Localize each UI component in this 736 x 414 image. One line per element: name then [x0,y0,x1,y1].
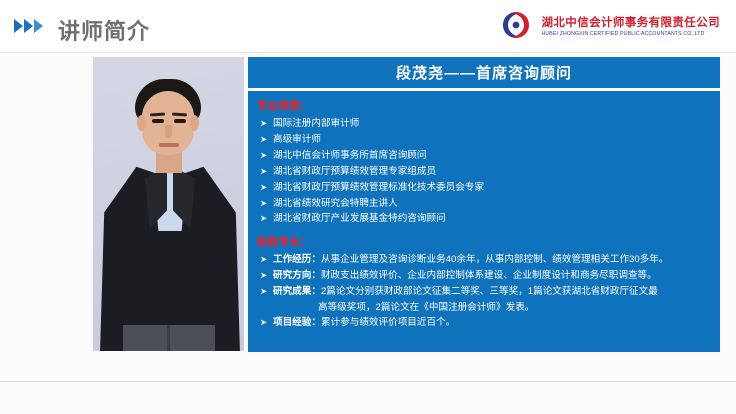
list-item: ➤ 湖北省财政厅预算绩效管理专家组成员 [257,164,710,179]
list-item-text: 工作经历：从事企业管理及咨询诊断业务40余年，从事内部控制、绩效管理相关工作30… [273,252,710,267]
arrow-bullet-icon: ➤ [257,132,273,147]
company-swirl-logo-icon [497,8,535,42]
list-item-text: 国际注册内部审计师 [273,116,710,131]
list-item: ➤ 国际注册内部审计师 [257,116,710,131]
arrow-bullet-icon: ➤ [257,196,273,211]
list-item-label: 研究方向： [273,270,321,281]
list-item-body: 从事企业管理及咨询诊断业务40余年，从事内部控制、绩效管理相关工作30多年。 [321,254,669,265]
header-divider [0,52,736,53]
list-item-label: 工作经历： [273,254,321,265]
page-title: 讲师简介 [58,14,150,46]
list-item-text: 湖北省财政厅产业发展基金特约咨询顾问 [273,211,710,226]
list-item-text: 高等级奖项，2篇论文在《中国注册会计师》发表。 [273,300,710,315]
list-item-body: 累计参与绩效评价项目近百个。 [321,317,455,328]
arrow-bullet-icon: ➤ [257,164,273,179]
list-item-body: 2篇论文分别获财政部论文征集二等奖、三等奖，1篇论文获湖北省财政厅征文最 [321,286,658,297]
photo-ear-right [190,115,199,131]
speaker-photo [93,57,244,351]
list-item: ➤ 湖北省财政厅产业发展基金特约咨询顾问 [257,211,710,226]
list-item-label: 研究成果： [273,286,321,297]
arrow-bullet-icon: ➤ [257,148,273,163]
section-heading-qualifications: 专业资质： [257,98,710,113]
list-item-body: 财政支出绩效评价、企业内部控制体系建设、企业制度设计和商务尽职调查等。 [321,270,657,281]
qualification-list: ➤ 国际注册内部审计师 ➤ 高级审计师 ➤ 湖北中信会计师事务所首席咨询顾问 ➤… [257,116,710,227]
slide-header: 讲师简介 湖北中信会计师事务有限责任公司 HUBEI ZHONGXIN CERT… [0,0,736,53]
section-heading-experience: 经验专长： [257,234,710,249]
slide-footer: 审计鉴证|预算绩效|财税咨询|司法会计|会计服务|管理咨询|造价咨询|资产评估 … [0,382,736,414]
list-item: ➤ 高级审计师 [257,132,710,147]
arrow-bullet-icon: ➤ [257,252,273,267]
list-item: ➤ 湖北中信会计师事务所首席咨询顾问 [257,148,710,163]
photo-eye-left [152,119,164,123]
chevron-1 [14,19,23,33]
list-item: ➤ 研究成果：2篇论文分别获财政部论文征集二等奖、三等奖，1篇论文获湖北省财政厅… [257,284,710,299]
list-item-label: 项目经验： [273,317,321,328]
experience-list: ➤ 工作经历：从事企业管理及咨询诊断业务40余年，从事内部控制、绩效管理相关工作… [257,252,710,331]
bio-panel-body: 专业资质： ➤ 国际注册内部审计师 ➤ 高级审计师 ➤ 湖北中信会计师事务所首席… [248,91,720,352]
list-item: ➤ 项目经验：累计参与绩效评价项目近百个。 [257,315,710,330]
triple-chevron-right-icon [14,19,43,33]
arrow-bullet-icon: ➤ [257,180,273,195]
list-item: ➤ 工作经历：从事企业管理及咨询诊断业务40余年，从事内部控制、绩效管理相关工作… [257,252,710,267]
list-item-text: 湖北省财政厅预算绩效管理专家组成员 [273,164,710,179]
logo-name-en: HUBEI ZHONGXIN CERTIFIED PUBLIC ACCOUNTA… [542,31,721,37]
arrow-bullet-icon: ➤ [257,284,273,299]
photo-trousers [123,325,215,351]
company-logo: 湖北中信会计师事务有限责任公司 HUBEI ZHONGXIN CERTIFIED… [497,8,721,42]
list-item-text: 高级审计师 [273,132,710,147]
list-item-continuation: 高等级奖项，2篇论文在《中国注册会计师》发表。 [257,300,710,315]
slide-root: 讲师简介 湖北中信会计师事务有限责任公司 HUBEI ZHONGXIN CERT… [0,0,736,414]
photo-mouth [159,143,179,147]
bio-panel-title: 段茂尧——首席咨询顾问 [248,57,720,88]
list-item-text: 项目经验：累计参与绩效评价项目近百个。 [273,315,710,330]
logo-name-cn: 湖北中信会计师事务有限责任公司 [542,14,721,30]
arrow-bullet-icon: ➤ [257,315,273,330]
list-item-text: 湖北中信会计师事务所首席咨询顾问 [273,148,710,163]
logo-text: 湖北中信会计师事务有限责任公司 HUBEI ZHONGXIN CERTIFIED… [542,14,721,37]
photo-ear-left [137,115,146,131]
list-item-text: 研究成果：2篇论文分别获财政部论文征集二等奖、三等奖，1篇论文获湖北省财政厅征文… [273,284,710,299]
arrow-bullet-icon: ➤ [257,268,273,283]
list-item: ➤ 湖北省绩效研究会特聘主讲人 [257,196,710,211]
chevron-3 [34,19,43,33]
photo-eye-right [174,119,186,123]
chevron-2 [24,19,33,33]
list-item-text: 湖北省绩效研究会特聘主讲人 [273,196,710,211]
photo-nose [165,125,172,138]
list-item: ➤ 湖北省财政厅预算绩效管理标准化技术委员会专家 [257,180,710,195]
list-item-text: 研究方向：财政支出绩效评价、企业内部控制体系建设、企业制度设计和商务尽职调查等。 [273,268,710,283]
arrow-bullet-icon: ➤ [257,211,273,226]
list-item-text: 湖北省财政厅预算绩效管理标准化技术委员会专家 [273,180,710,195]
bio-panel: 段茂尧——首席咨询顾问 专业资质： ➤ 国际注册内部审计师 ➤ 高级审计师 ➤ … [248,57,720,352]
arrow-bullet-icon: ➤ [257,116,273,131]
list-item: ➤ 研究方向：财政支出绩效评价、企业内部控制体系建设、企业制度设计和商务尽职调查… [257,268,710,283]
